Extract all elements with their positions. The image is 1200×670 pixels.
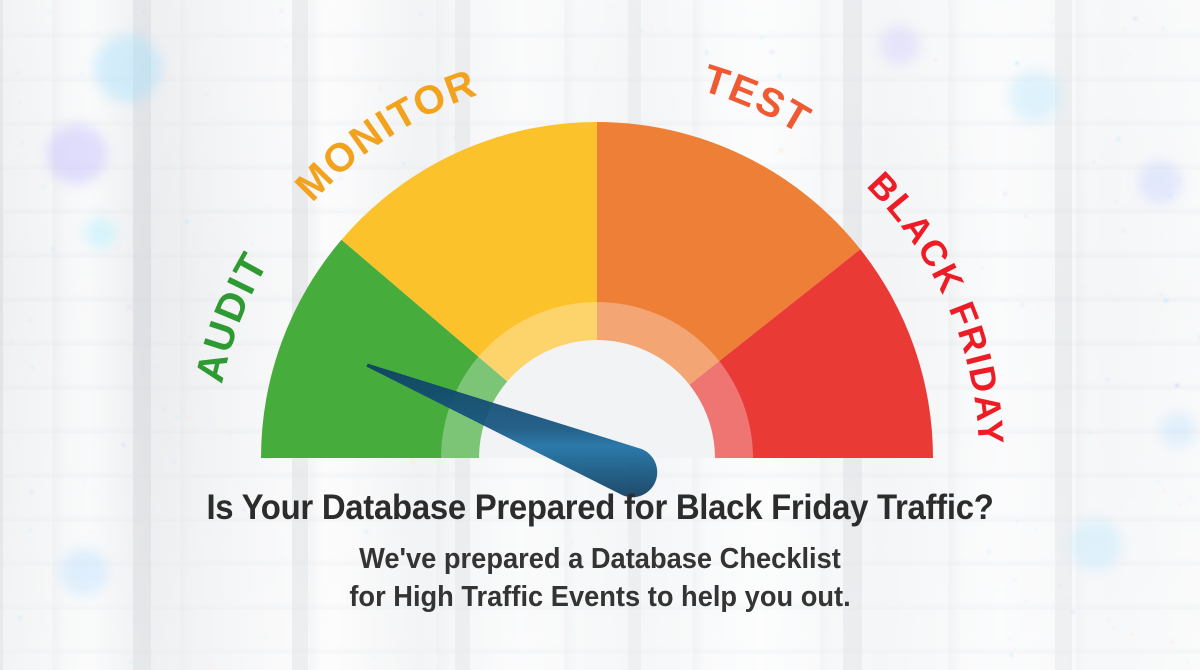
- subheadline: We've prepared a Database Checklist for …: [0, 540, 1200, 616]
- headline: Is Your Database Prepared for Black Frid…: [36, 486, 1164, 530]
- banner: AUDIT MONITOR TEST BLACK FRIDAY Is Your …: [0, 0, 1200, 670]
- segment-label-audit-text: AUDIT: [188, 245, 277, 387]
- segment-label-test-text: TEST: [698, 57, 819, 143]
- copy-block: Is Your Database Prepared for Black Frid…: [0, 486, 1200, 616]
- subheadline-line-2: for High Traffic Events to help you out.: [36, 578, 1164, 616]
- segment-label-audit: AUDIT: [188, 245, 277, 387]
- subheadline-line-1: We've prepared a Database Checklist: [36, 540, 1164, 578]
- segment-label-test: TEST: [698, 57, 819, 143]
